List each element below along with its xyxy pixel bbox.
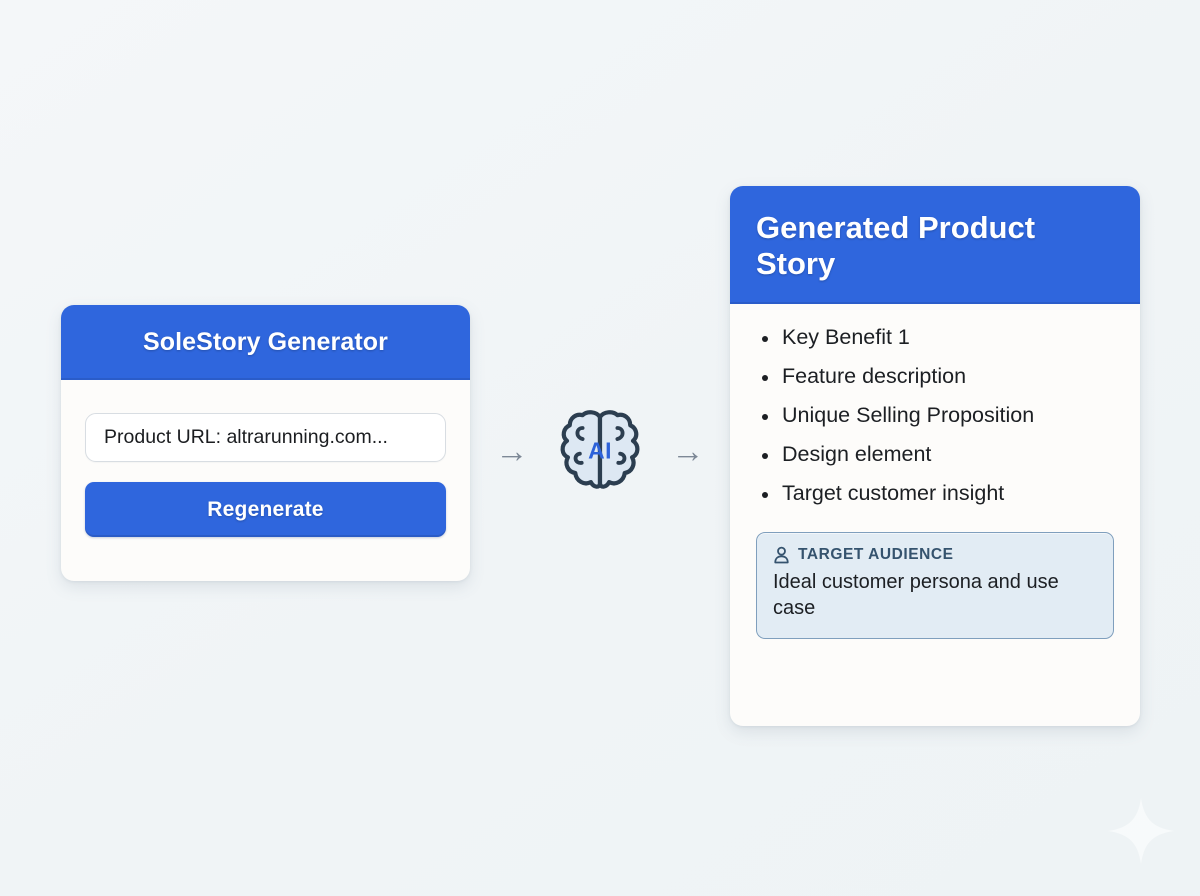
arrow-right-icon-in: → xyxy=(489,434,535,467)
product-url-input[interactable] xyxy=(85,413,446,462)
list-item: Unique Selling Proposition xyxy=(756,396,1114,435)
brain-ai-label: AI xyxy=(588,437,612,463)
story-card-body: Key Benefit 1 Feature description Unique… xyxy=(730,304,1140,639)
target-audience-callout: TARGET AUDIENCE Ideal customer persona a… xyxy=(756,532,1114,640)
generator-card: SoleStory Generator Regenerate xyxy=(61,305,470,581)
arrow-right-icon-out: → xyxy=(665,434,711,467)
brain-icon: AI xyxy=(554,406,646,494)
sparkle-icon xyxy=(1104,794,1178,868)
list-item: Feature description xyxy=(756,357,1114,396)
story-card-title: Generated Product Story xyxy=(730,186,1140,304)
person-icon xyxy=(773,546,790,564)
target-audience-header: TARGET AUDIENCE xyxy=(773,546,1097,564)
diagram-canvas: SoleStory Generator Regenerate → AI → xyxy=(0,0,1200,896)
list-item: Key Benefit 1 xyxy=(756,318,1114,357)
ai-processing-flow: → AI → xyxy=(489,405,711,495)
story-bullet-list: Key Benefit 1 Feature description Unique… xyxy=(756,318,1114,514)
list-item: Design element xyxy=(756,435,1114,474)
target-audience-title: TARGET AUDIENCE xyxy=(798,546,954,564)
regenerate-button[interactable]: Regenerate xyxy=(85,482,446,537)
generator-card-title: SoleStory Generator xyxy=(61,305,470,380)
list-item: Target customer insight xyxy=(756,474,1114,513)
target-audience-text: Ideal customer persona and use case xyxy=(773,569,1097,622)
story-card: Generated Product Story Key Benefit 1 Fe… xyxy=(730,186,1140,726)
generator-card-body: Regenerate xyxy=(61,380,470,537)
